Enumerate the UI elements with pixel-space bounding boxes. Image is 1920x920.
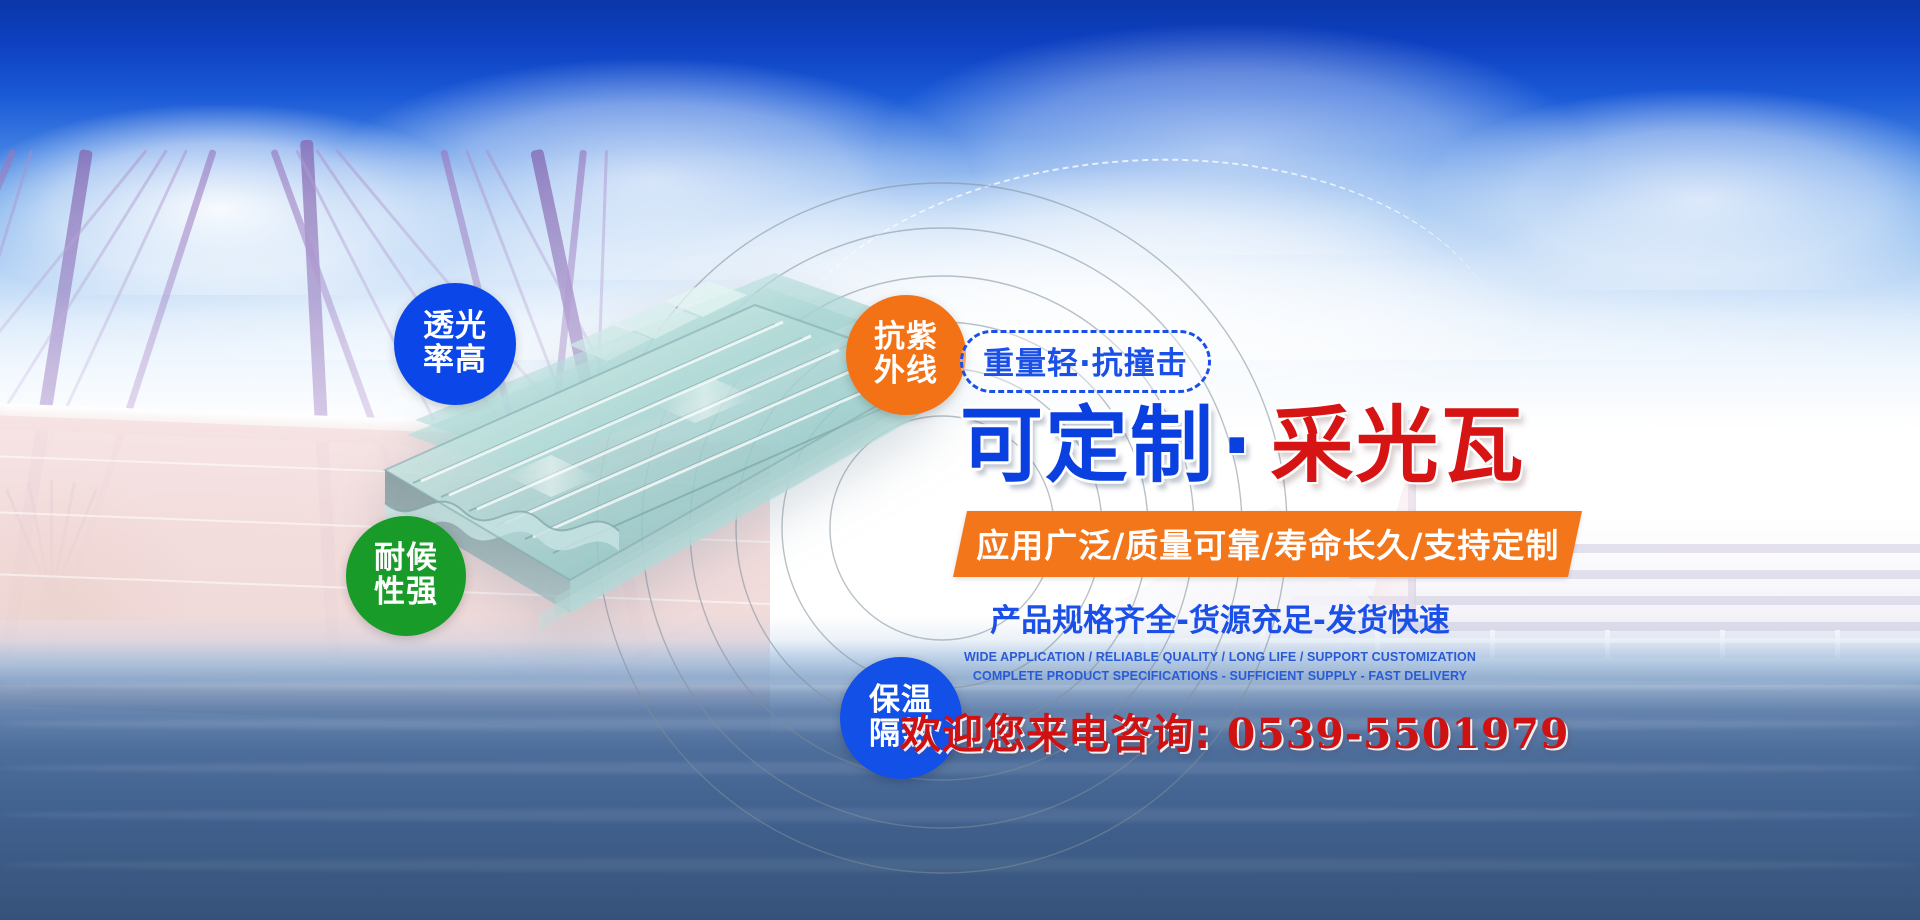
subline: 产品规格齐全-货源充足-发货快速 — [900, 595, 1540, 640]
tagline-pill: 重量轻·抗撞击 — [960, 330, 1211, 393]
badge-line-1: 透光 — [423, 311, 487, 343]
badge-light-transmittance[interactable]: 透光 率高 — [394, 283, 516, 405]
badge-line-2: 性强 — [374, 577, 438, 609]
headline-separator: · — [1215, 397, 1261, 494]
badge-line-2: 外线 — [874, 356, 938, 388]
badge-line-1: 耐候 — [374, 543, 438, 575]
feature-bar-label: 应用广泛/质量可靠/寿命长久/支持定制 — [976, 519, 1559, 567]
contact-label: 欢迎您来电咨询: — [900, 710, 1211, 758]
badge-weather-resistant[interactable]: 耐候 性强 — [346, 516, 466, 636]
subline-part2: -发货快速 — [1313, 603, 1450, 639]
copy-block: 重量轻·抗撞击 可定制·采光瓦 应用广泛/质量可靠/寿命长久/支持定制 产品规格… — [960, 330, 1860, 760]
contact-line[interactable]: 欢迎您来电咨询: 0539-5501979 — [900, 700, 1560, 760]
headline-red: 采光瓦 — [1271, 397, 1526, 494]
badge-line-1: 抗紫 — [874, 322, 938, 354]
page-title: 可定制·采光瓦 — [960, 402, 1860, 489]
subline-part1: 产品规格齐全- — [990, 603, 1189, 639]
subline-highlight: 货源充足 — [1189, 603, 1313, 639]
badge-uv-resistant[interactable]: 抗紫 外线 — [846, 295, 966, 415]
banner-root: 透光 率高 抗紫 外线 耐候 性强 保温 隔热 重量轻·抗撞击 可定制·采光瓦 … — [0, 0, 1920, 920]
phone-number[interactable]: 0539-5501979 — [1227, 710, 1570, 758]
badge-line-2: 率高 — [423, 345, 487, 377]
english-line-1: WIDE APPLICATION / RELIABLE QUALITY / LO… — [900, 648, 1540, 667]
headline-blue: 可定制 — [960, 397, 1215, 494]
feature-bar: 应用广泛/质量可靠/寿命长久/支持定制 — [953, 511, 1582, 577]
english-line-2: COMPLETE PRODUCT SPECIFICATIONS - SUFFIC… — [900, 667, 1540, 686]
english-caption: WIDE APPLICATION / RELIABLE QUALITY / LO… — [900, 648, 1540, 686]
